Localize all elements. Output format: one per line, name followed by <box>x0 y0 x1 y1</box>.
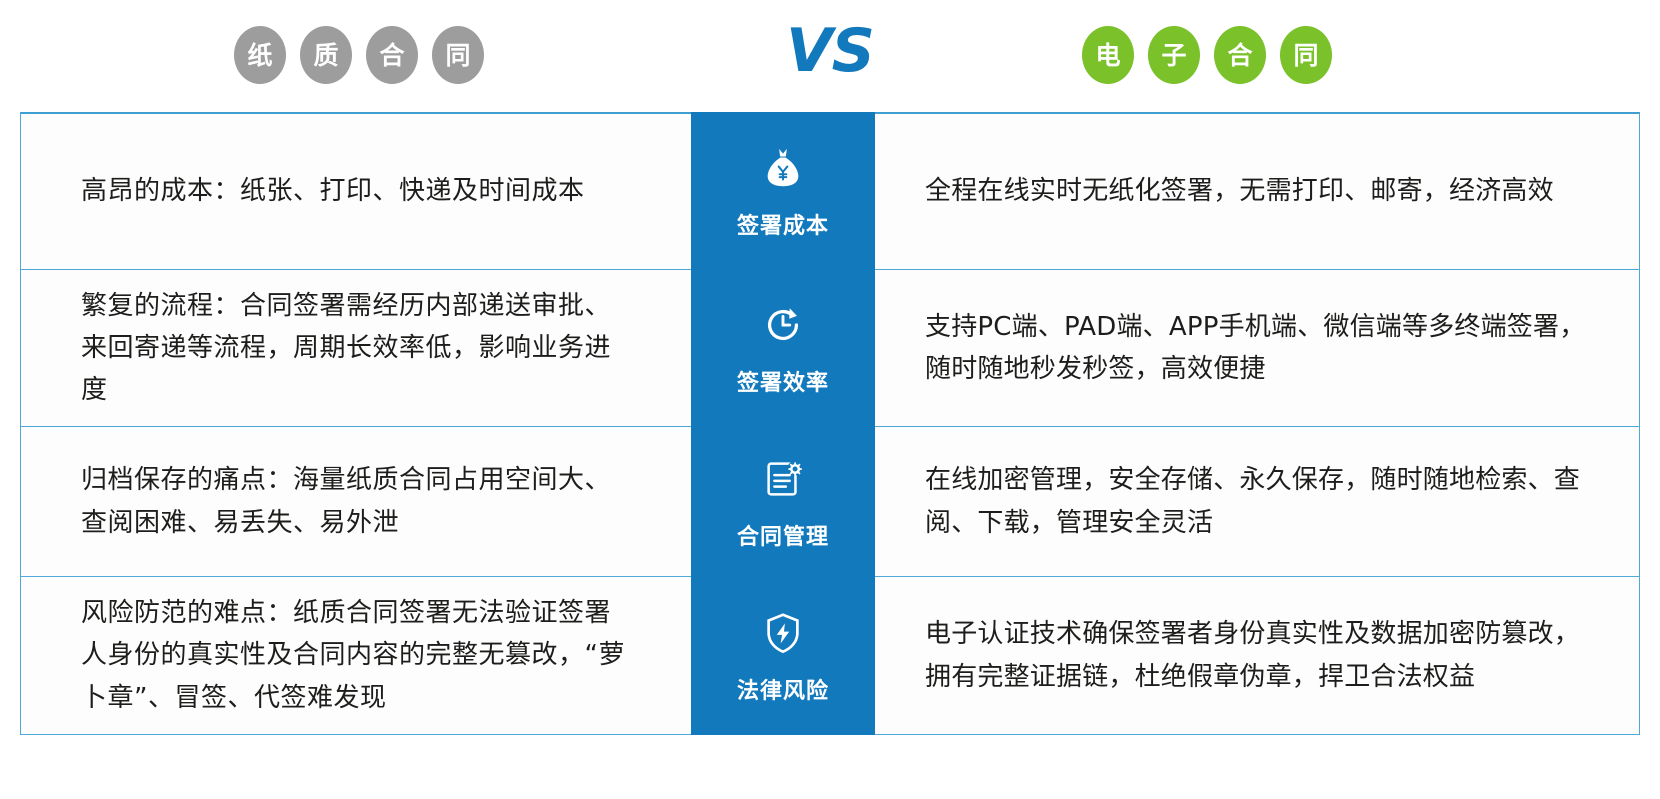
chip-electronic-3: 合 <box>1214 26 1266 84</box>
table-row: 风险防范的难点：纸质合同签署无法验证签署人身份的真实性及合同内容的完整无篡改，“… <box>21 577 1639 734</box>
electronic-contract-text: 电子认证技术确保签署者身份真实性及数据加密防篡改，拥有完整证据链，杜绝假章伪章，… <box>925 613 1599 697</box>
electronic-contract-cell: 在线加密管理，安全存储、永久保存，随时随地检索、查阅、下载，管理安全灵活 <box>875 427 1639 576</box>
paper-contract-text: 繁复的流程：合同签署需经历内部递送审批、来回寄递等流程，周期长效率低，影响业务进… <box>81 285 635 411</box>
category-label: 签署成本 <box>737 208 829 240</box>
paper-contract-chips: 纸 质 合 同 <box>234 26 484 84</box>
electronic-contract-cell: 支持PC端、PAD端、APP手机端、微信端等多终端签署，随时随地秒发秒签，高效便… <box>875 270 1639 426</box>
chip-label: 子 <box>1161 43 1186 68</box>
shield-bolt-icon <box>757 607 809 659</box>
category-cell: 签署效率 <box>691 269 875 427</box>
chip-paper-2: 质 <box>300 26 352 84</box>
chip-paper-4: 同 <box>432 26 484 84</box>
document-gear-icon <box>757 453 809 505</box>
paper-contract-text: 风险防范的难点：纸质合同签署无法验证签署人身份的真实性及合同内容的完整无篡改，“… <box>81 592 635 718</box>
chip-label: 纸 <box>247 43 272 68</box>
category-cell: 合同管理 <box>691 426 875 577</box>
paper-contract-cell: 归档保存的痛点：海量纸质合同占用空间大、查阅困难、易丢失、易外泄 <box>21 427 691 576</box>
chip-paper-1: 纸 <box>234 26 286 84</box>
chip-label: 合 <box>379 43 404 68</box>
versus-label: VS <box>786 16 874 86</box>
chip-electronic-4: 同 <box>1280 26 1332 84</box>
comparison-table: 高昂的成本：纸张、打印、快递及时间成本 签署成本 全程在线实时无纸化签署，无需打… <box>20 112 1640 735</box>
chip-label: 合 <box>1227 43 1252 68</box>
chip-label: 质 <box>313 43 338 68</box>
category-label: 法律风险 <box>737 673 829 705</box>
paper-contract-cell: 风险防范的难点：纸质合同签署无法验证签署人身份的真实性及合同内容的完整无篡改，“… <box>21 577 691 734</box>
clock-refresh-icon <box>757 299 809 351</box>
paper-contract-cell: 高昂的成本：纸张、打印、快递及时间成本 <box>21 114 691 269</box>
table-row: 归档保存的痛点：海量纸质合同占用空间大、查阅困难、易丢失、易外泄 合同管理 在线… <box>21 427 1639 577</box>
electronic-contract-text: 支持PC端、PAD端、APP手机端、微信端等多终端签署，随时随地秒发秒签，高效便… <box>925 306 1599 390</box>
paper-contract-text: 高昂的成本：纸张、打印、快递及时间成本 <box>81 170 585 212</box>
chip-electronic-2: 子 <box>1148 26 1200 84</box>
electronic-contract-cell: 全程在线实时无纸化签署，无需打印、邮寄，经济高效 <box>875 114 1639 269</box>
category-cell: 签署成本 <box>691 112 875 270</box>
category-cell: 法律风险 <box>691 576 875 735</box>
paper-contract-text: 归档保存的痛点：海量纸质合同占用空间大、查阅困难、易丢失、易外泄 <box>81 459 635 543</box>
table-row: 繁复的流程：合同签署需经历内部递送审批、来回寄递等流程，周期长效率低，影响业务进… <box>21 270 1639 427</box>
category-label: 合同管理 <box>737 519 829 551</box>
chip-paper-3: 合 <box>366 26 418 84</box>
money-bag-icon <box>757 142 809 194</box>
paper-contract-cell: 繁复的流程：合同签署需经历内部递送审批、来回寄递等流程，周期长效率低，影响业务进… <box>21 270 691 426</box>
chip-label: 同 <box>445 43 470 68</box>
chip-label: 电 <box>1095 43 1120 68</box>
electronic-contract-text: 全程在线实时无纸化签署，无需打印、邮寄，经济高效 <box>925 170 1554 212</box>
electronic-contract-chips: 电 子 合 同 <box>1082 26 1332 84</box>
category-label: 签署效率 <box>737 365 829 397</box>
comparison-header: 纸 质 合 同 VS 电 子 合 同 <box>0 0 1660 112</box>
chip-label: 同 <box>1293 43 1318 68</box>
table-row: 高昂的成本：纸张、打印、快递及时间成本 签署成本 全程在线实时无纸化签署，无需打… <box>21 114 1639 270</box>
electronic-contract-cell: 电子认证技术确保签署者身份真实性及数据加密防篡改，拥有完整证据链，杜绝假章伪章，… <box>875 577 1639 734</box>
chip-electronic-1: 电 <box>1082 26 1134 84</box>
electronic-contract-text: 在线加密管理，安全存储、永久保存，随时随地检索、查阅、下载，管理安全灵活 <box>925 459 1599 543</box>
